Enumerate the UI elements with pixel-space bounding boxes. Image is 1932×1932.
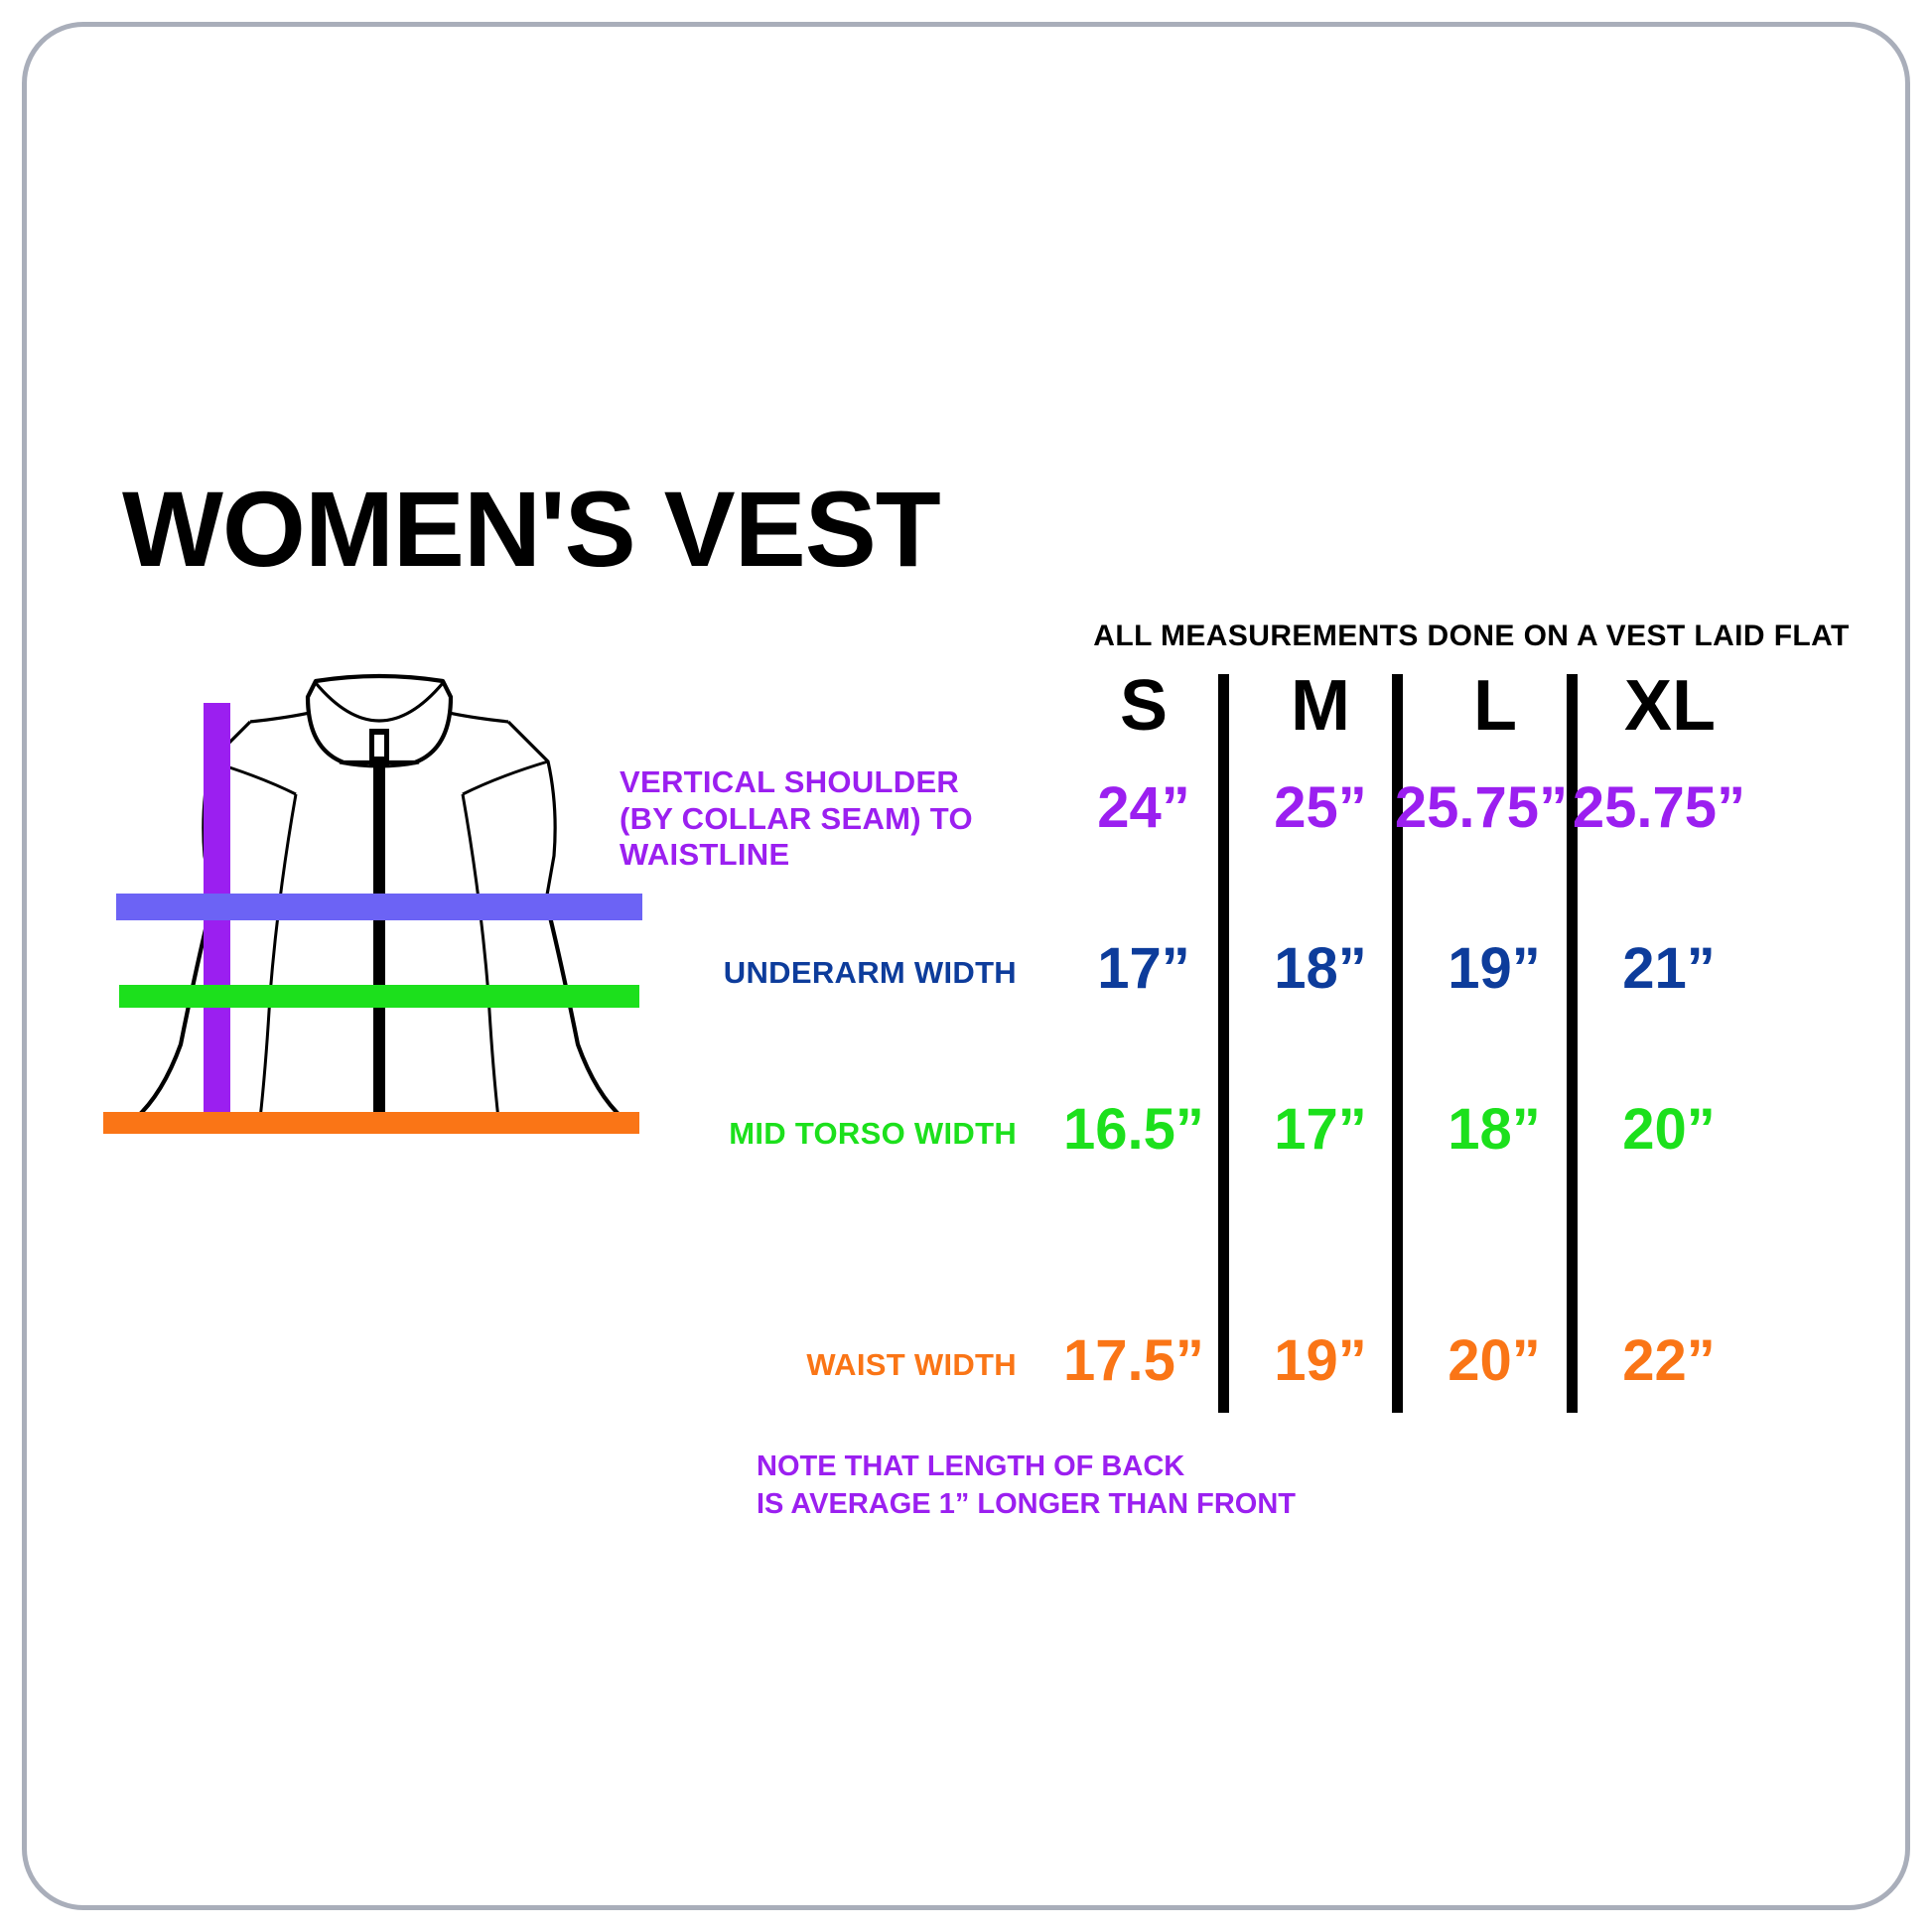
footnote-line-2: IS AVERAGE 1” LONGER THAN FRONT (757, 1486, 1296, 1524)
size-header-s: S (1049, 670, 1238, 742)
measurement-note: ALL MEASUREMENTS DONE ON A VEST LAID FLA… (1074, 620, 1868, 653)
row-label-line-1: VERTICAL SHOULDER (620, 764, 1017, 801)
row-label-vertical-shoulder: VERTICAL SHOULDER (BY COLLAR SEAM) TO WA… (620, 764, 1017, 874)
vest-illustration (101, 667, 657, 1183)
size-chart-card: WOMEN'S VEST ALL MEASUREMENTS DONE ON A … (22, 22, 1910, 1910)
footnote-line-1: NOTE THAT LENGTH OF BACK (757, 1449, 1296, 1486)
value-underarm-width-xl: 21” (1555, 940, 1783, 998)
row-label-waist-width: WAIST WIDTH (520, 1347, 1017, 1384)
row-label-mid-torso-width: MID TORSO WIDTH (520, 1116, 1017, 1153)
value-vertical-shoulder-xl: 25.75” (1545, 779, 1773, 837)
back-length-footnote: NOTE THAT LENGTH OF BACK IS AVERAGE 1” L… (757, 1449, 1296, 1523)
underarm-width-measure-bar (116, 894, 642, 920)
size-header-m: M (1226, 670, 1415, 742)
row-label-line-2: (BY COLLAR SEAM) TO (620, 801, 1017, 838)
row-label-underarm-width: UNDERARM WIDTH (520, 955, 1017, 992)
page-title: WOMEN'S VEST (122, 476, 940, 583)
size-header-l: L (1401, 670, 1589, 742)
size-header-xl: XL (1576, 670, 1764, 742)
value-waist-width-xl: 22” (1555, 1332, 1783, 1390)
row-label-line-3: WAISTLINE (620, 837, 1017, 874)
value-mid-torso-width-xl: 20” (1555, 1101, 1783, 1159)
